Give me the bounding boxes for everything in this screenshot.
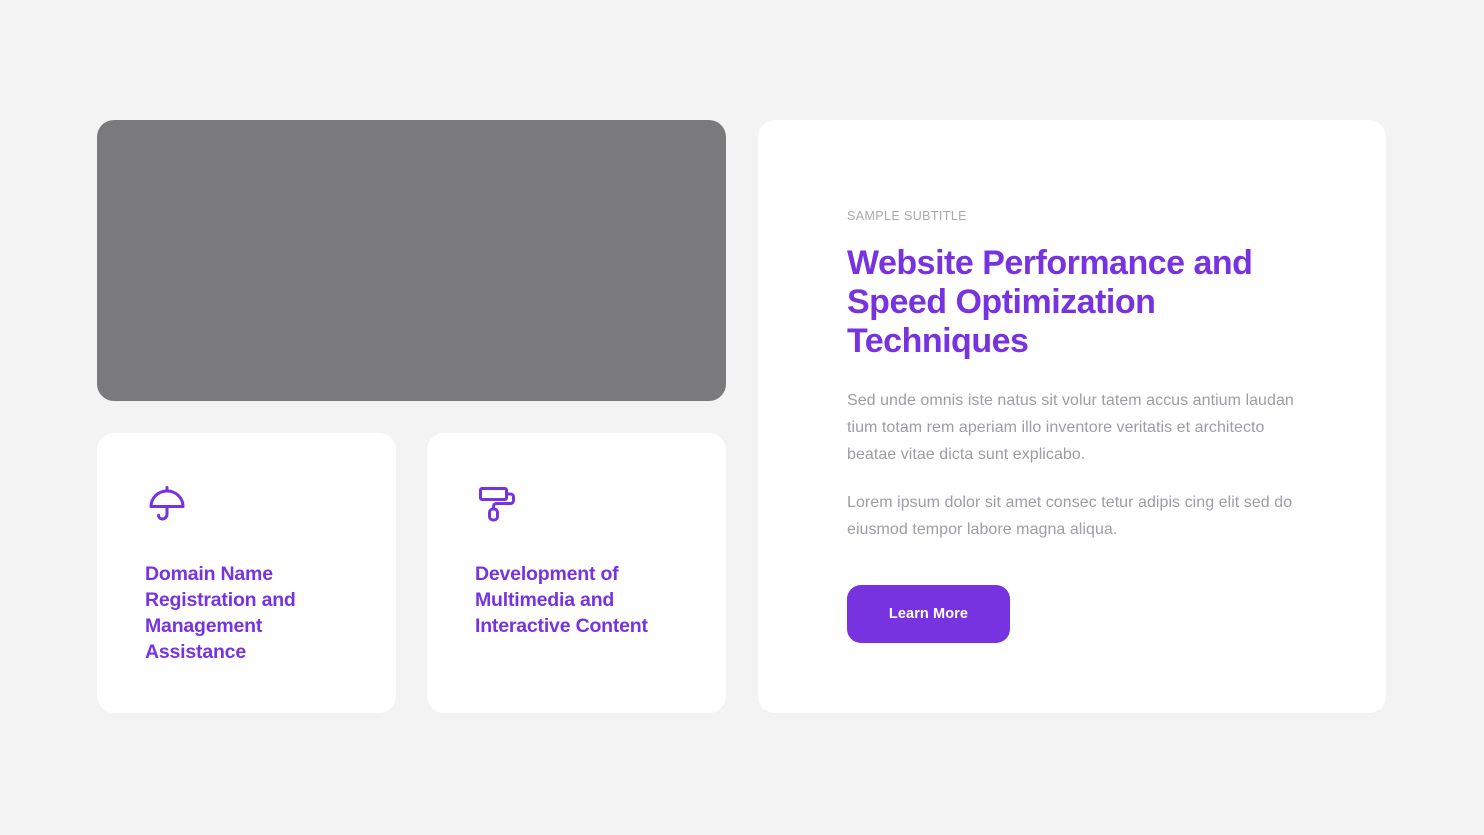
- paint-roller-icon: [475, 481, 519, 525]
- content-panel: SAMPLE SUBTITLE Website Performance and …: [758, 120, 1386, 713]
- page-title: Website Performance and Speed Optimizati…: [847, 244, 1296, 361]
- panel-paragraph: Sed unde omnis iste natus sit volur tate…: [847, 387, 1296, 468]
- learn-more-button[interactable]: Learn More: [847, 585, 1010, 643]
- feature-card-row: Domain Name Registration and Management …: [97, 433, 726, 713]
- feature-card-title: Development of Multimedia and Interactiv…: [475, 561, 685, 639]
- left-column: Domain Name Registration and Management …: [97, 120, 726, 713]
- page-root: Domain Name Registration and Management …: [0, 0, 1484, 835]
- panel-subtitle: SAMPLE SUBTITLE: [847, 208, 1296, 224]
- media-placeholder: [97, 120, 726, 401]
- feature-card-title: Domain Name Registration and Management …: [145, 561, 355, 665]
- feature-card[interactable]: Domain Name Registration and Management …: [97, 433, 396, 713]
- panel-paragraph: Lorem ipsum dolor sit amet consec tetur …: [847, 489, 1296, 543]
- umbrella-icon: [145, 481, 189, 525]
- feature-card[interactable]: Development of Multimedia and Interactiv…: [427, 433, 726, 713]
